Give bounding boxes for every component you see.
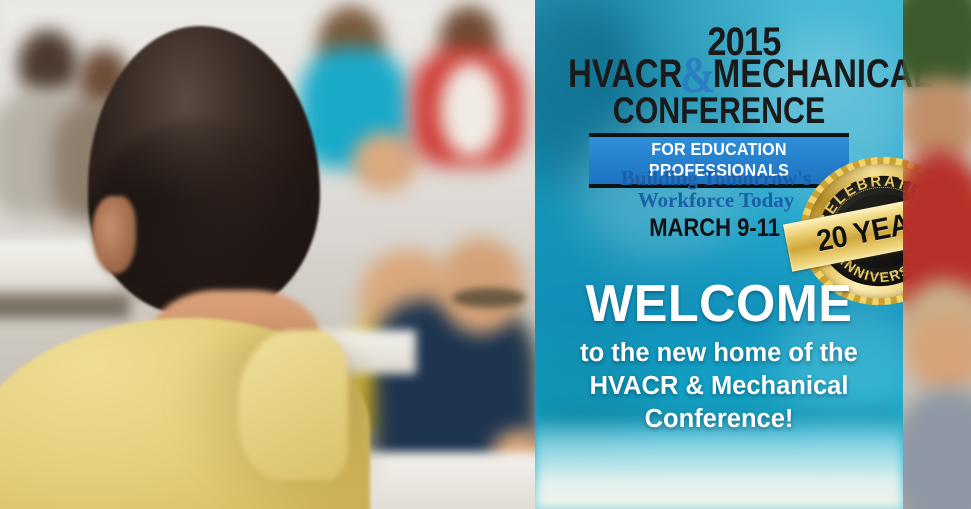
foreground-polo-collar bbox=[238, 330, 348, 480]
desk-edge-1 bbox=[0, 292, 130, 318]
welcome-subtext: to the new home of the HVACR & Mechanica… bbox=[535, 337, 903, 436]
welcome-message: WELCOME to the new home of the HVACR & M… bbox=[535, 278, 903, 436]
foreground-ear bbox=[92, 196, 136, 274]
welcome-line-1: to the new home of the bbox=[535, 337, 903, 370]
welcome-headline: WELCOME bbox=[541, 278, 898, 331]
audience-blob-white-chest bbox=[440, 62, 502, 158]
welcome-line-3: Conference! bbox=[535, 403, 903, 436]
right-grey-shirt-blob bbox=[903, 388, 971, 509]
right-photo-strip bbox=[903, 0, 971, 509]
welcome-line-2: HVACR & Mechanical bbox=[535, 370, 903, 403]
glasses-blob-icon bbox=[452, 288, 526, 308]
audience-blob-head-6 bbox=[438, 238, 524, 334]
banner-root: 2015 HVACR&MECHANICAL CONFERENCE FOR EDU… bbox=[0, 0, 971, 509]
right-face-blob bbox=[911, 312, 971, 394]
audience-blob-arm-3 bbox=[352, 132, 418, 192]
logo-title-conference: CONFERENCE bbox=[568, 92, 870, 129]
